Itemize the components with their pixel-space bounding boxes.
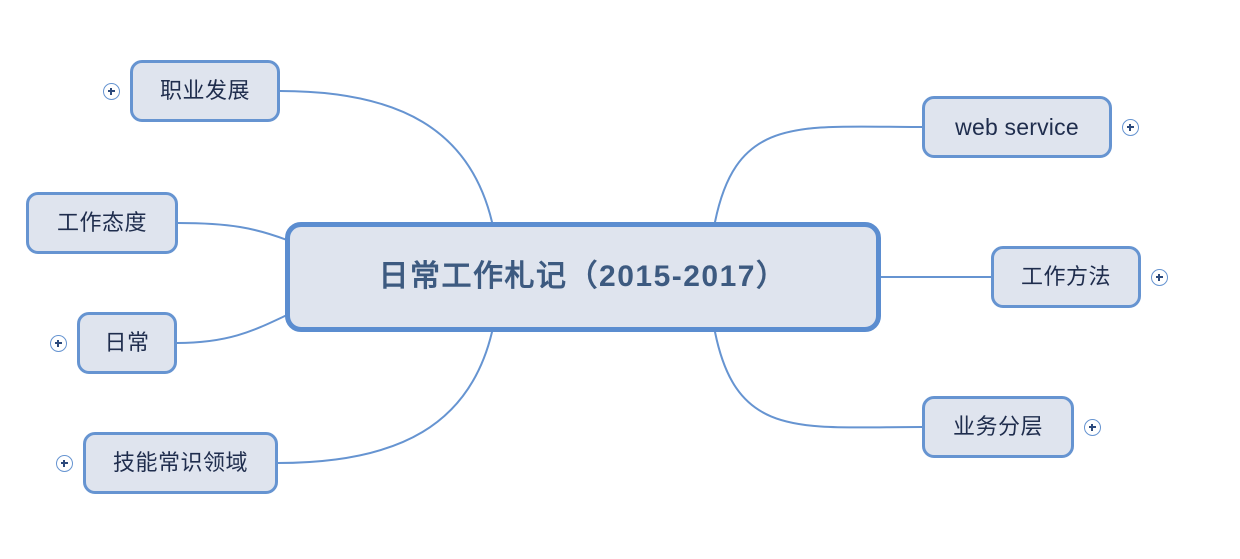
expand-toggle-web-service[interactable] [1122, 119, 1139, 136]
central-node[interactable]: 日常工作札记（2015-2017） [285, 222, 881, 332]
edge-web-service [715, 127, 922, 222]
branch-node-jineng-changshi-lingyu[interactable]: 技能常识领域 [83, 432, 278, 494]
branch-node-yewu-fenceng[interactable]: 业务分层 [922, 396, 1074, 458]
edge-jineng-changshi-lingyu [278, 332, 492, 463]
mindmap-canvas: 日常工作札记（2015-2017）职业发展工作态度日常技能常识领域web ser… [0, 0, 1240, 559]
branch-node-zhiye-fazhan[interactable]: 职业发展 [130, 60, 280, 122]
central-node-label: 日常工作札记（2015-2017） [379, 262, 788, 292]
edge-zhiye-fazhan [280, 91, 492, 222]
expand-toggle-gongzuo-fangfa[interactable] [1151, 269, 1168, 286]
edge-yewu-fenceng [715, 332, 922, 427]
edge-richang [177, 315, 287, 343]
branch-node-gongzuo-fangfa[interactable]: 工作方法 [991, 246, 1141, 308]
branch-node-label-gongzuo-fangfa: 工作方法 [1021, 266, 1111, 288]
branch-node-gongzuo-taidu[interactable]: 工作态度 [26, 192, 178, 254]
branch-node-label-zhiye-fazhan: 职业发展 [160, 80, 250, 102]
expand-toggle-zhiye-fazhan[interactable] [103, 83, 120, 100]
branch-node-label-yewu-fenceng: 业务分层 [953, 416, 1043, 438]
branch-node-richang[interactable]: 日常 [77, 312, 177, 374]
branch-node-web-service[interactable]: web service [922, 96, 1112, 158]
branch-node-label-jineng-changshi-lingyu: 技能常识领域 [113, 452, 248, 474]
edge-gongzuo-taidu [178, 223, 287, 240]
branch-node-label-web-service: web service [955, 116, 1079, 139]
branch-node-label-gongzuo-taidu: 工作态度 [57, 212, 147, 234]
expand-toggle-yewu-fenceng[interactable] [1084, 419, 1101, 436]
expand-toggle-richang[interactable] [50, 335, 67, 352]
expand-toggle-jineng-changshi-lingyu[interactable] [56, 455, 73, 472]
branch-node-label-richang: 日常 [104, 332, 149, 354]
